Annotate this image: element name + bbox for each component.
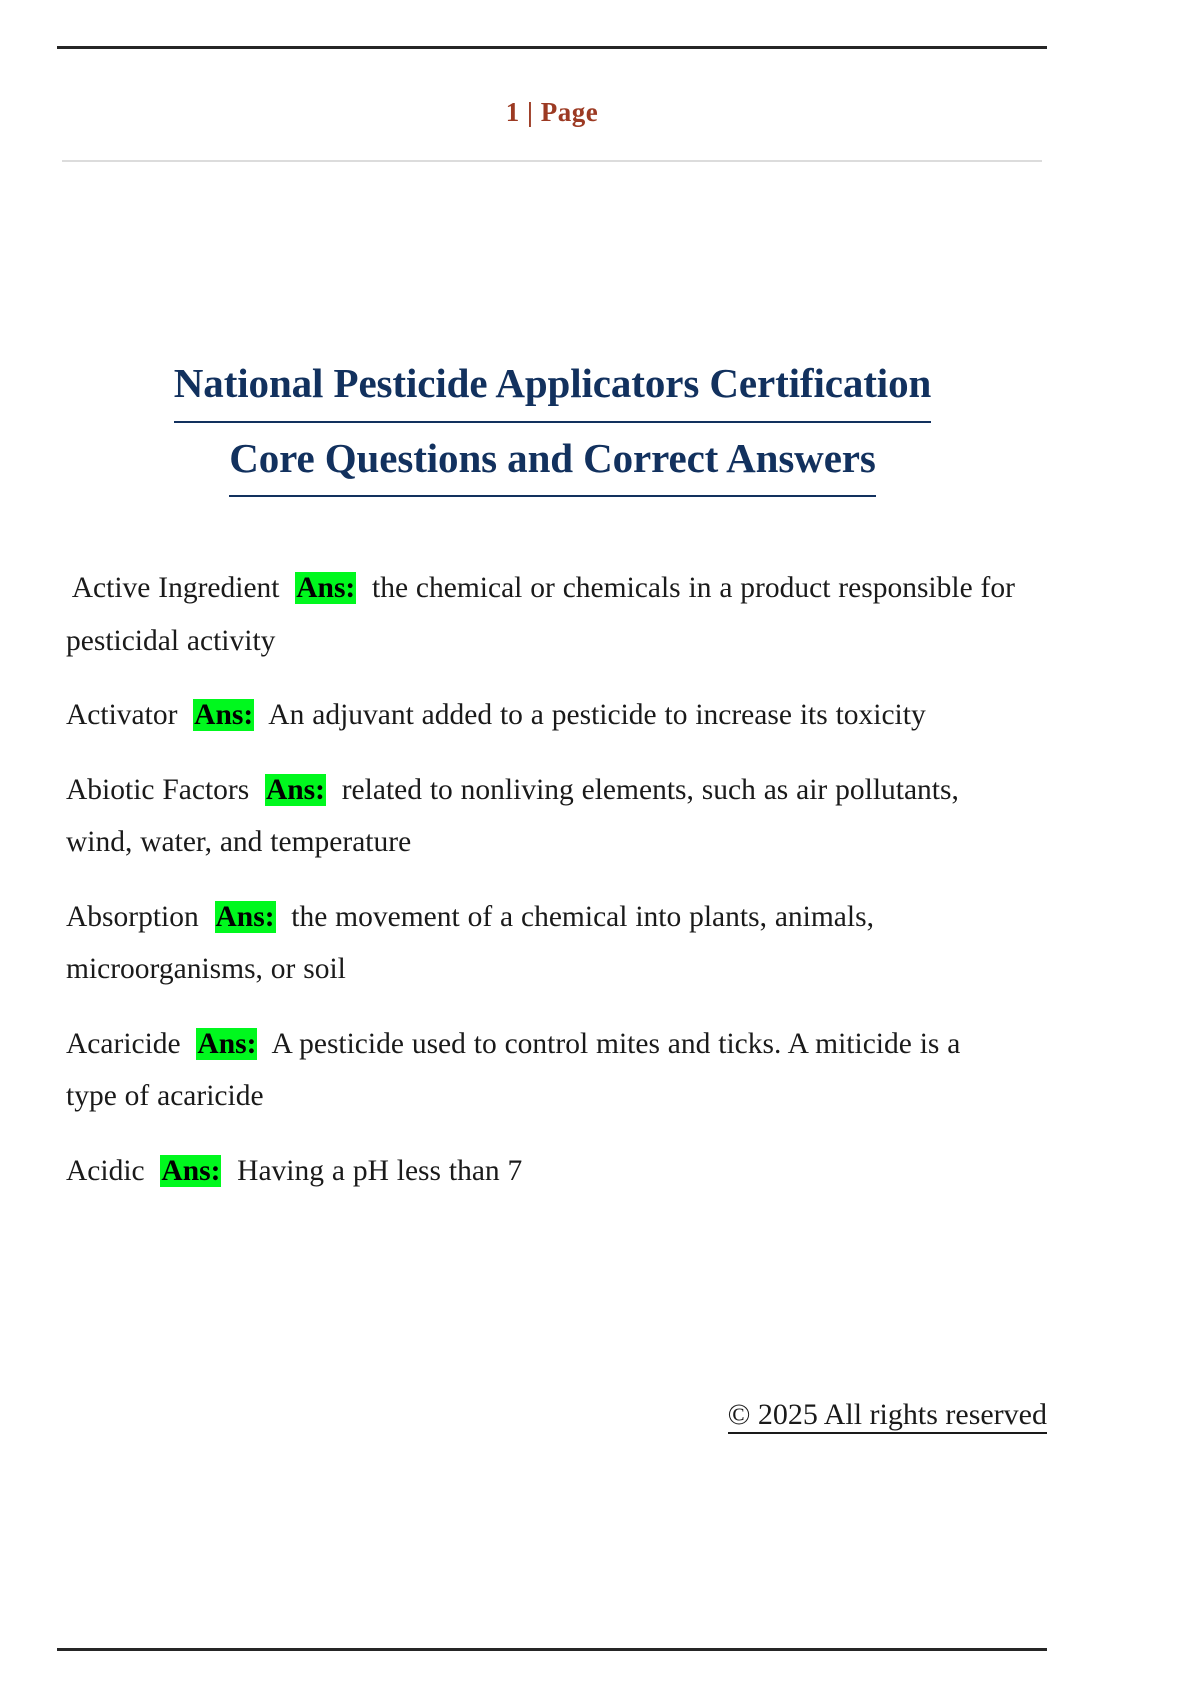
qa-term: Activator — [66, 699, 193, 731]
document-page: 1 | Page National Pesticide Applicators … — [0, 0, 1200, 1700]
answer-tag-highlight: Ans: — [196, 1028, 257, 1060]
answer-tag-highlight: Ans: — [193, 699, 254, 731]
qa-answer: An adjuvant added to a pesticide to incr… — [254, 699, 926, 731]
qa-term: Acaricide — [66, 1028, 196, 1060]
qa-entry: Active Ingredient Ans: the chemical or c… — [66, 562, 1018, 667]
qa-list: Active Ingredient Ans: the chemical or c… — [66, 562, 1018, 1219]
document-title: National Pesticide Applicators Certifica… — [70, 348, 1035, 497]
running-footer: © 2025 All rights reserved — [57, 1398, 1047, 1432]
qa-entry: Activator Ans: An adjuvant added to a pe… — [66, 689, 1018, 742]
answer-tag-highlight: Ans: — [160, 1155, 221, 1187]
qa-entry: Absorption Ans: the movement of a chemic… — [66, 891, 1018, 996]
top-page-rule — [57, 46, 1047, 49]
running-header: 1 | Page — [57, 96, 1047, 128]
answer-tag-highlight: Ans: — [215, 901, 276, 933]
qa-entry: Acaricide Ans: A pesticide used to contr… — [66, 1018, 1018, 1123]
qa-entry: Acidic Ans: Having a pH less than 7 — [66, 1145, 1018, 1198]
document-title-line-1: National Pesticide Applicators Certifica… — [174, 348, 931, 423]
page-number-label: 1 | Page — [506, 97, 598, 127]
answer-tag-highlight: Ans: — [265, 774, 326, 806]
copyright-label: © 2025 All rights reserved — [728, 1398, 1047, 1434]
document-title-line-2: Core Questions and Correct Answers — [229, 423, 876, 498]
qa-term: Absorption — [66, 901, 215, 933]
qa-answer: Having a pH less than 7 — [221, 1155, 522, 1187]
qa-term: Active Ingredient — [66, 572, 295, 604]
qa-term: Acidic — [66, 1155, 160, 1187]
bottom-page-rule — [57, 1648, 1047, 1651]
qa-entry: Abiotic Factors Ans: related to nonlivin… — [66, 764, 1018, 869]
answer-tag-highlight: Ans: — [295, 572, 356, 604]
header-divider-rule — [62, 160, 1042, 162]
qa-term: Abiotic Factors — [66, 774, 265, 806]
